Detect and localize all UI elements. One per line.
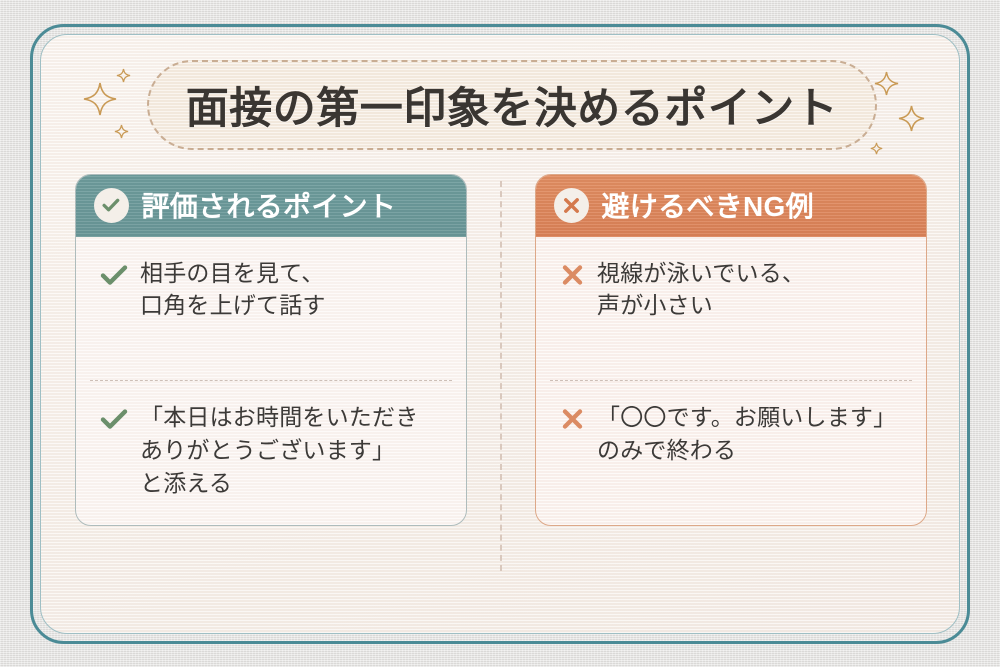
- list-item-text: 視線が泳いでいる、 声が小さい: [597, 257, 805, 322]
- content-panel: 面接の第一印象を決めるポイント 評価されるポイント 相手の目を見て、: [40, 34, 960, 634]
- x-icon: [560, 263, 585, 287]
- check-icon: [100, 263, 128, 287]
- card-ng-examples: 避けるべきNG例 視線が泳いでいる、 声が小さい 「〇〇です。お願いします」 の…: [535, 174, 927, 526]
- column-good: 評価されるポイント 相手の目を見て、 口角を上げて話す 「本日はお時間をいただき…: [41, 174, 501, 544]
- card-title-good: 評価されるポイント: [142, 185, 397, 225]
- x-circle-icon: [554, 188, 589, 223]
- list-item-text: 「〇〇です。お願いします」 のみで終わる: [597, 401, 896, 466]
- page-title: 面接の第一印象を決めるポイント: [186, 74, 839, 136]
- sparkle-icon: [114, 124, 129, 139]
- check-icon: [100, 407, 128, 431]
- column-bad: 避けるべきNG例 視線が泳いでいる、 声が小さい 「〇〇です。お願いします」 の…: [501, 174, 960, 544]
- page-title-banner: 面接の第一印象を決めるポイント: [147, 60, 877, 150]
- sparkle-icon: [870, 142, 883, 155]
- card-evaluated-points: 評価されるポイント 相手の目を見て、 口角を上げて話す 「本日はお時間をいただき…: [75, 174, 467, 526]
- sparkle-icon: [874, 71, 899, 96]
- list-item: 「〇〇です。お願いします」 のみで終わる: [550, 380, 912, 525]
- card-body-bad: 視線が泳いでいる、 声が小さい 「〇〇です。お願いします」 のみで終わる: [536, 237, 926, 526]
- card-header-bad: 避けるべきNG例: [535, 174, 927, 237]
- list-item-text: 「本日はお時間をいただき ありがとうございます」 と添える: [140, 401, 418, 499]
- card-header-good: 評価されるポイント: [75, 174, 467, 237]
- check-circle-icon: [94, 188, 129, 223]
- list-item: 視線が泳いでいる、 声が小さい: [550, 237, 912, 381]
- list-item: 「本日はお時間をいただき ありがとうございます」 と添える: [90, 380, 452, 525]
- card-body-good: 相手の目を見て、 口角を上げて話す 「本日はお時間をいただき ありがとうございま…: [76, 237, 466, 526]
- list-item-text: 相手の目を見て、 口角を上げて話す: [140, 257, 326, 322]
- sparkle-icon: [83, 82, 117, 116]
- card-title-bad: 避けるべきNG例: [602, 185, 814, 225]
- sparkle-icon: [898, 105, 925, 132]
- sparkle-icon: [116, 68, 131, 83]
- list-item: 相手の目を見て、 口角を上げて話す: [90, 237, 452, 381]
- x-icon: [560, 407, 585, 431]
- comparison-columns: 評価されるポイント 相手の目を見て、 口角を上げて話す 「本日はお時間をいただき…: [41, 174, 960, 544]
